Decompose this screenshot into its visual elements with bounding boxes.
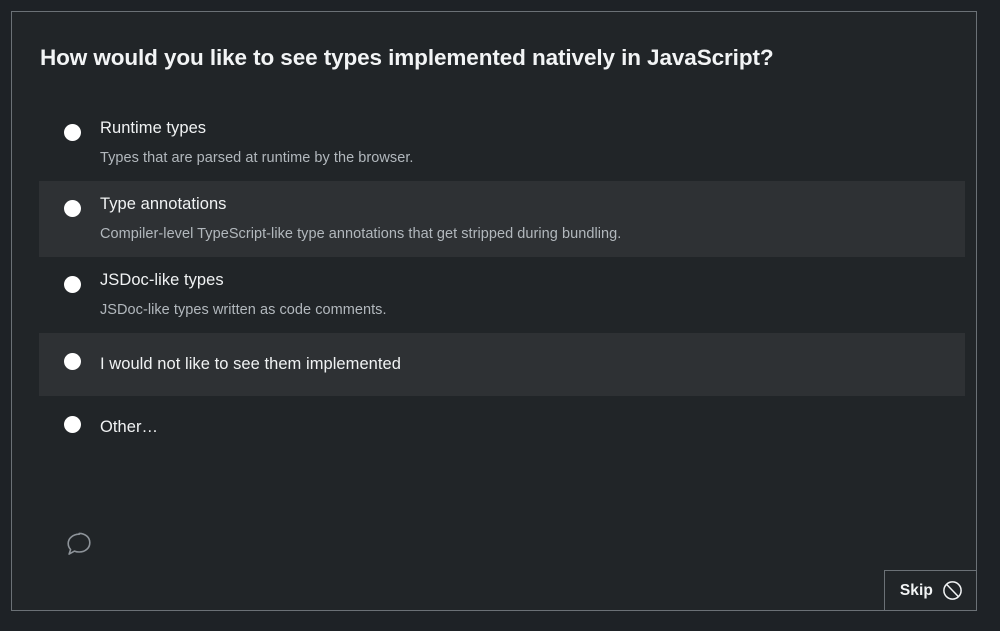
option-row-jsdoc-like-types[interactable]: JSDoc-like types JSDoc-like types writte… [39,257,965,333]
radio-button[interactable] [64,353,81,370]
option-label: Runtime types [100,116,945,140]
radio-button[interactable] [64,416,81,433]
option-label: Other… [100,415,945,439]
radio-button[interactable] [64,124,81,141]
no-entry-icon [942,580,963,601]
option-description: Compiler-level TypeScript-like type anno… [100,223,945,245]
options-list: Runtime types Types that are parsed at r… [39,105,965,459]
option-row-not-implemented[interactable]: I would not like to see them implemented [39,333,965,396]
option-label: I would not like to see them implemented [100,352,945,376]
skip-button[interactable]: Skip [884,570,977,611]
skip-button-label: Skip [900,582,933,600]
option-label: JSDoc-like types [100,268,945,292]
option-row-runtime-types[interactable]: Runtime types Types that are parsed at r… [39,105,965,181]
comment-bubble-icon[interactable] [63,528,95,560]
option-label: Type annotations [100,192,945,216]
option-row-other[interactable]: Other… [39,396,965,459]
option-description: JSDoc-like types written as code comment… [100,299,945,321]
radio-button[interactable] [64,200,81,217]
option-description: Types that are parsed at runtime by the … [100,147,945,169]
page-title: How would you like to see types implemen… [40,45,940,71]
survey-card: How would you like to see types implemen… [11,11,977,611]
radio-button[interactable] [64,276,81,293]
option-row-type-annotations[interactable]: Type annotations Compiler-level TypeScri… [39,181,965,257]
